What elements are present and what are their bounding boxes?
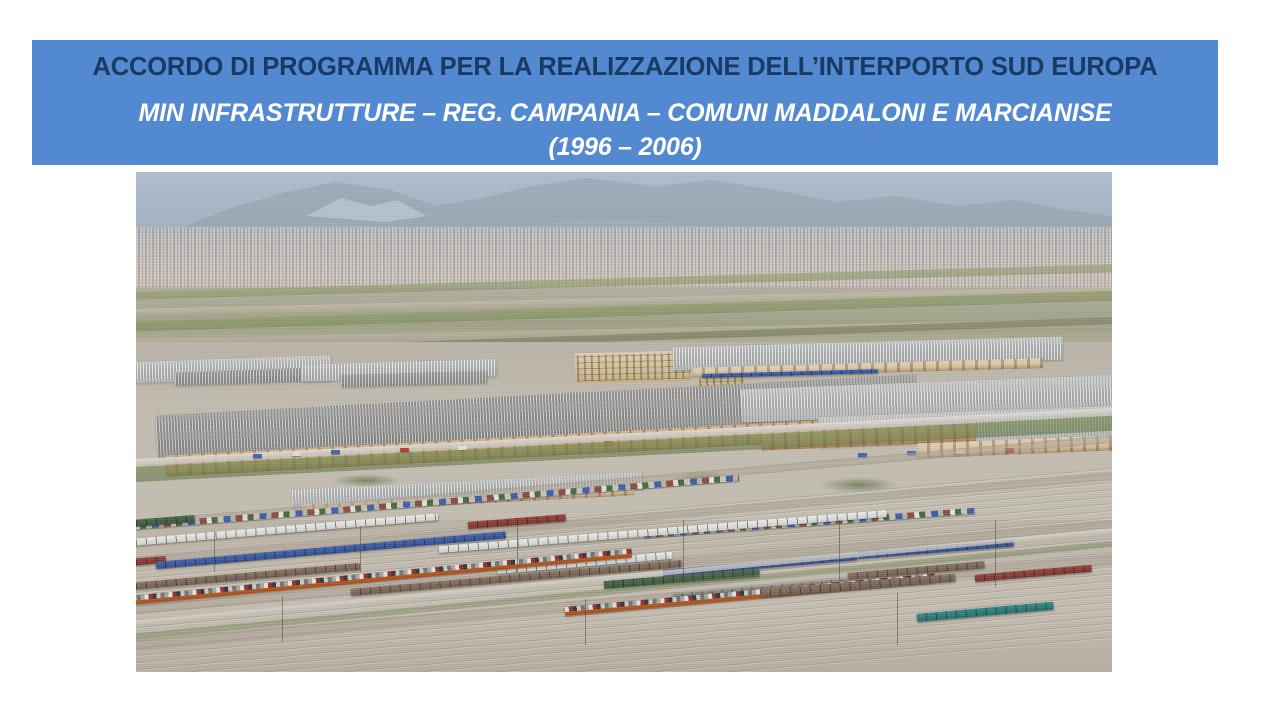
slide: ACCORDO DI PROGRAMMA PER LA REALIZZAZION… bbox=[0, 0, 1280, 720]
title-line-years: (1996 – 2006) bbox=[46, 131, 1204, 164]
title-line-primary: ACCORDO DI PROGRAMMA PER LA REALIZZAZION… bbox=[46, 50, 1204, 84]
title-line-secondary: MIN INFRASTRUTTURE – REG. CAMPANIA – COM… bbox=[46, 95, 1204, 131]
parked-lorry bbox=[400, 448, 409, 452]
railway-marshalling-yard bbox=[136, 520, 1112, 672]
parked-lorry bbox=[253, 454, 262, 458]
aerial-photo-canvas bbox=[136, 172, 1112, 672]
industrial-yard-region bbox=[136, 342, 1112, 672]
aerial-photo bbox=[136, 172, 1112, 672]
title-banner: ACCORDO DI PROGRAMMA PER LA REALIZZAZION… bbox=[32, 40, 1218, 165]
parked-lorry bbox=[292, 452, 301, 456]
warehouse-roof bbox=[341, 371, 488, 387]
parked-lorry bbox=[331, 450, 340, 454]
